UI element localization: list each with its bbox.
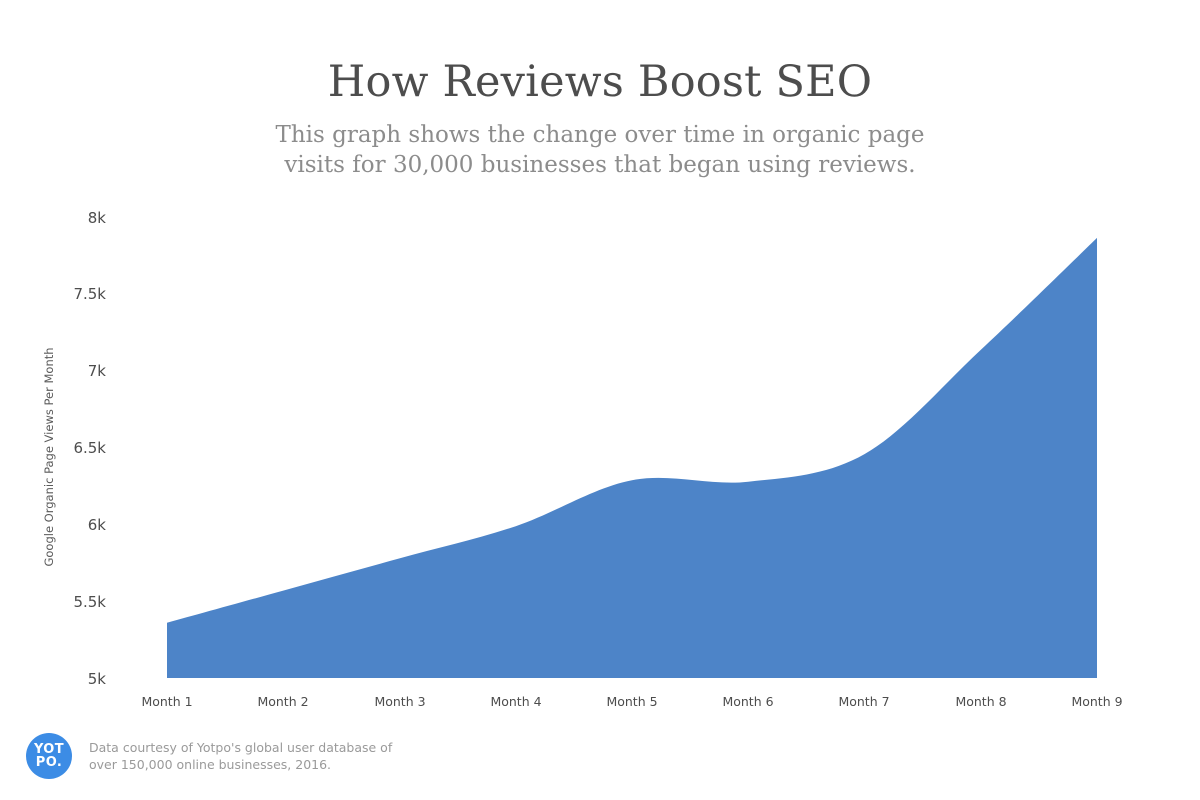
x-tick-label: Month 3: [340, 696, 460, 709]
footer: YOT PO. Data courtesy of Yotpo's global …: [26, 733, 392, 779]
chart-subtitle-line-1: This graph shows the change over time in…: [0, 121, 1200, 151]
y-tick-label: 7k: [46, 364, 106, 379]
chart-subtitle: This graph shows the change over time in…: [0, 107, 1200, 181]
y-tick-label: 5.5k: [46, 595, 106, 610]
y-tick-label: 5k: [46, 672, 106, 687]
y-axis-title: Google Organic Page Views Per Month: [40, 227, 58, 687]
y-tick-label: 7.5k: [46, 287, 106, 302]
data-source-note-line-1: Data courtesy of Yotpo's global user dat…: [89, 739, 392, 756]
x-tick-label: Month 8: [921, 696, 1041, 709]
yotpo-logo-line-2: PO.: [36, 756, 62, 769]
x-tick-label: Month 7: [804, 696, 924, 709]
area-series-path: [167, 238, 1097, 678]
x-tick-label: Month 4: [456, 696, 576, 709]
page-title: How Reviews Boost SEO: [0, 0, 1200, 107]
data-source-note: Data courtesy of Yotpo's global user dat…: [89, 739, 392, 774]
x-tick-label: Month 6: [688, 696, 808, 709]
y-tick-label: 8k: [46, 211, 106, 226]
y-tick-label: 6k: [46, 518, 106, 533]
chart-header: How Reviews Boost SEO This graph shows t…: [0, 0, 1200, 181]
chart-subtitle-line-2: visits for 30,000 businesses that began …: [0, 151, 1200, 181]
x-tick-label: Month 5: [572, 696, 692, 709]
x-tick-label: Month 1: [107, 696, 227, 709]
data-source-note-line-2: over 150,000 online businesses, 2016.: [89, 756, 392, 773]
x-tick-label: Month 9: [1037, 696, 1157, 709]
y-tick-label: 6.5k: [46, 441, 106, 456]
yotpo-logo: YOT PO.: [26, 733, 72, 779]
x-tick-label: Month 2: [223, 696, 343, 709]
